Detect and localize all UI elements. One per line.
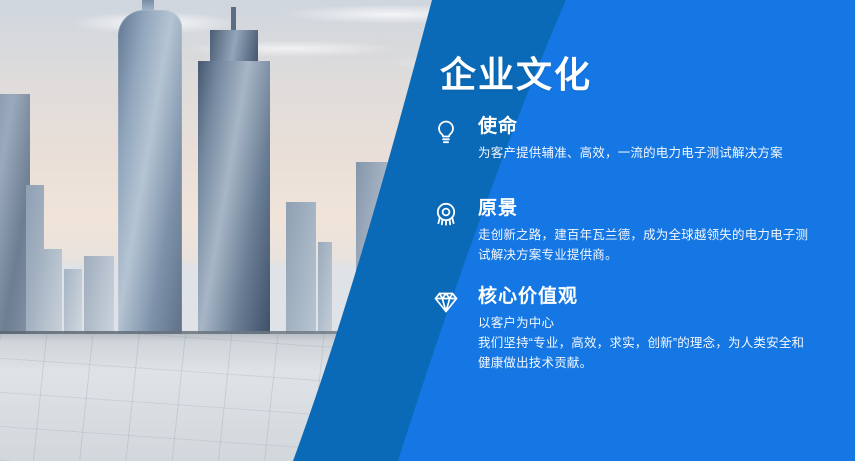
section-vision-heading: 原景	[478, 198, 830, 221]
lightbulb-icon	[430, 116, 462, 148]
section-core-values-line-1: 以客户为中心	[478, 313, 830, 333]
page-title: 企业文化	[440, 54, 592, 95]
section-core-values-line-2: 我们坚持“专业，高效，求实，创新”的理念，为人类安全和	[478, 333, 830, 353]
section-mission: 使命 为客产提供辅准、高效，一流的电力电子测试解决方案	[430, 116, 830, 163]
section-vision-body: 走创新之路，建百年瓦兰德，成为全球越领失的电力电子测 试解决方案专业提供商。	[478, 225, 830, 265]
section-mission-body: 为客产提供辅准、高效，一流的电力电子测试解决方案	[478, 143, 830, 163]
section-core-values: 核心价值观 以客户为中心 我们坚持“专业，高效，求实，创新”的理念，为人类安全和…	[430, 286, 830, 373]
section-core-values-body: 以客户为中心 我们坚持“专业，高效，求实，创新”的理念，为人类安全和 健康做出技…	[478, 313, 830, 373]
section-mission-heading: 使命	[478, 116, 830, 139]
section-core-values-heading: 核心价值观	[478, 286, 830, 309]
corporate-culture-banner: 企业文化 使命 为客产提供辅准、高效，一流的电力电子测试解决方案	[0, 0, 855, 461]
section-vision-line-1: 走创新之路，建百年瓦兰德，成为全球越领失的电力电子测	[478, 225, 830, 245]
section-vision-line-2: 试解决方案专业提供商。	[478, 245, 830, 265]
section-vision: 原景 走创新之路，建百年瓦兰德，成为全球越领失的电力电子测 试解决方案专业提供商…	[430, 198, 830, 265]
section-mission-line-1: 为客产提供辅准、高效，一流的电力电子测试解决方案	[478, 143, 830, 163]
diamond-icon	[430, 286, 462, 318]
medal-icon	[430, 198, 462, 230]
section-core-values-line-3: 健康做出技术贡献。	[478, 353, 830, 373]
banner-content: 企业文化 使命 为客产提供辅准、高效，一流的电力电子测试解决方案	[0, 0, 855, 461]
